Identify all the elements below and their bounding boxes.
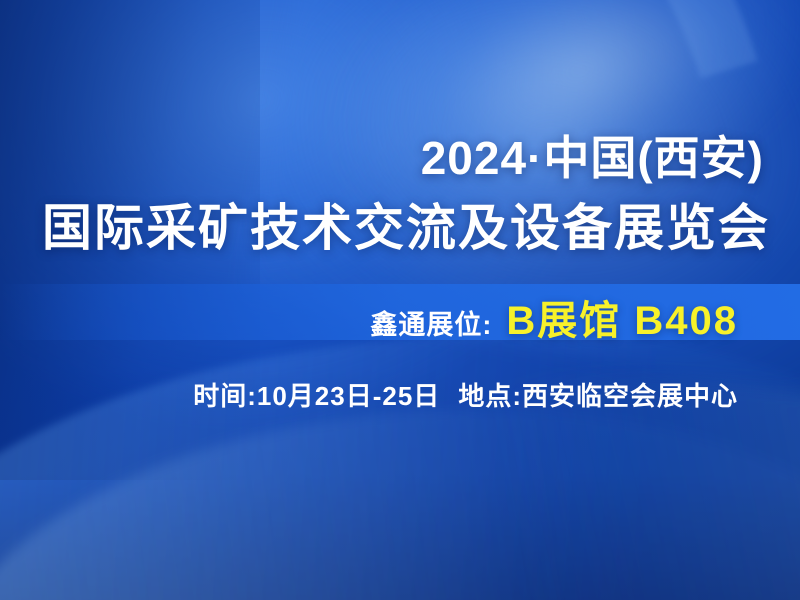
- event-info-row: 时间:10月23日-25日地点:西安临空会展中心: [193, 376, 738, 413]
- event-time-value: 10月23日-25日: [257, 381, 440, 411]
- poster-title-line-2: 国际采矿技术交流及设备展览会: [42, 188, 770, 260]
- event-time-label: 时间:: [193, 381, 257, 411]
- event-place-value: 西安临空会展中心: [522, 381, 738, 411]
- booth-number: B展馆 B408: [506, 288, 738, 346]
- event-place-label: 地点:: [458, 381, 522, 411]
- booth-label: 鑫通展位:: [370, 303, 492, 342]
- poster-content: 2024·中国(西安) 国际采矿技术交流及设备展览会 鑫通展位: B展馆 B40…: [0, 0, 800, 600]
- booth-row: 鑫通展位: B展馆 B408: [370, 288, 738, 346]
- poster-image: 2024·中国(西安) 国际采矿技术交流及设备展览会 鑫通展位: B展馆 B40…: [0, 0, 800, 600]
- poster-title-line-1: 2024·中国(西安): [421, 122, 764, 188]
